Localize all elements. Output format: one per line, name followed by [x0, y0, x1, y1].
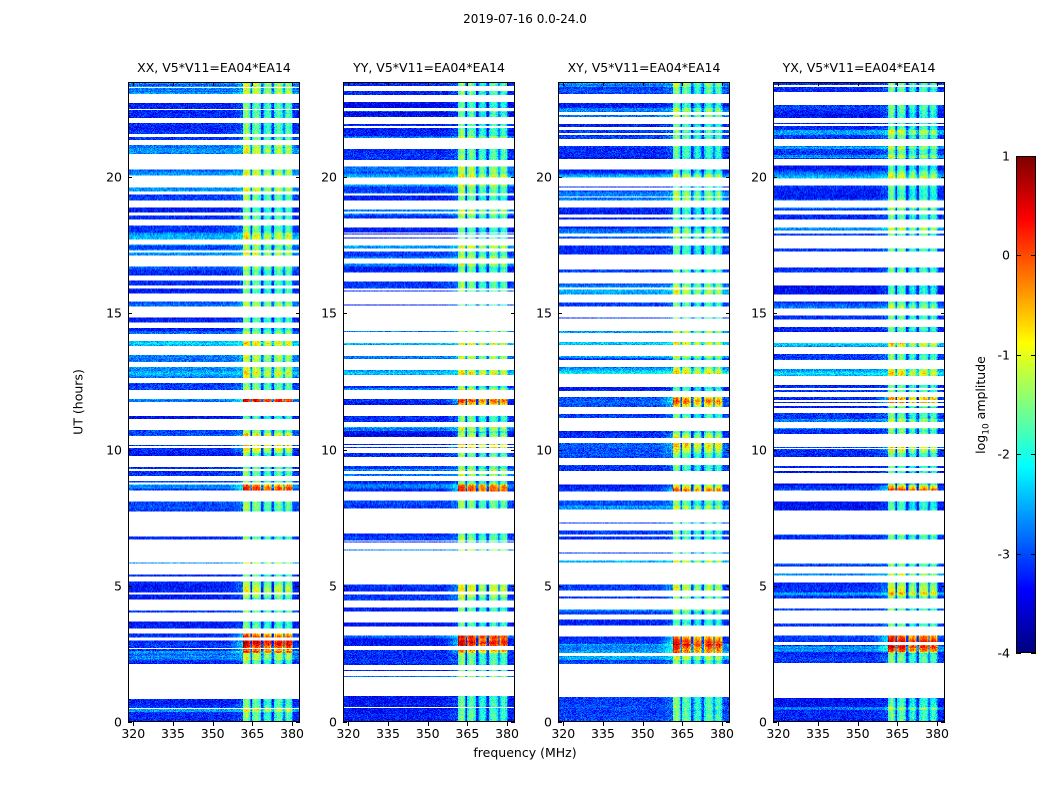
y-axis-label: UT (hours) — [71, 369, 86, 435]
x-tick-top — [818, 82, 819, 86]
y-tick-right — [296, 586, 300, 587]
y-tick-right — [296, 450, 300, 451]
panel-xy[interactable]: XY, V5*V11=EA04*EA14 — [558, 82, 730, 722]
y-tick-right — [296, 722, 300, 723]
y-tick — [773, 177, 777, 178]
y-tick — [773, 722, 777, 723]
colorbar-tick — [1016, 653, 1021, 654]
y-tick-right — [511, 177, 515, 178]
colorbar[interactable] — [1016, 156, 1036, 653]
x-tick-top — [603, 82, 604, 86]
y-tick-label: 15 — [745, 306, 767, 321]
x-tick-label: 380 — [495, 726, 519, 741]
colorbar-tick-right — [1031, 653, 1036, 654]
colorbar-label-base: 10 — [981, 423, 991, 434]
x-tick-label: 320 — [336, 726, 360, 741]
y-tick-right — [726, 313, 730, 314]
x-tick-top — [133, 82, 134, 86]
colorbar-tick — [1016, 255, 1021, 256]
x-tick-label: 365 — [455, 726, 479, 741]
x-tick-top — [682, 82, 683, 86]
colorbar-tick — [1016, 355, 1021, 356]
y-tick-right — [296, 177, 300, 178]
y-tick-right — [726, 450, 730, 451]
x-tick-top — [858, 82, 859, 86]
y-tick — [128, 450, 132, 451]
y-tick-label: 5 — [745, 578, 767, 593]
colorbar-label-log: log — [973, 435, 988, 454]
colorbar-tick-right — [1031, 156, 1036, 157]
y-tick — [343, 586, 347, 587]
colorbar-tick — [1016, 156, 1021, 157]
colorbar-tick-right — [1031, 454, 1036, 455]
y-tick-right — [511, 450, 515, 451]
y-tick — [558, 586, 562, 587]
y-tick-label: 10 — [530, 442, 552, 457]
x-tick-label: 335 — [806, 726, 830, 741]
colorbar-tick-right — [1031, 255, 1036, 256]
x-tick-label: 365 — [670, 726, 694, 741]
y-tick — [773, 313, 777, 314]
y-tick — [343, 177, 347, 178]
colorbar-tick-label: 1 — [984, 149, 1010, 164]
x-tick-top — [563, 82, 564, 86]
x-tick-top — [348, 82, 349, 86]
y-tick — [773, 586, 777, 587]
x-axis-label: frequency (MHz) — [0, 745, 1050, 760]
colorbar-tick-label: -3 — [984, 546, 1010, 561]
y-tick-label: 10 — [100, 442, 122, 457]
y-tick-right — [726, 586, 730, 587]
y-tick-label: 20 — [100, 170, 122, 185]
x-tick-top — [643, 82, 644, 86]
panel-yx[interactable]: YX, V5*V11=EA04*EA14 — [773, 82, 945, 722]
colorbar-tick-label: 0 — [984, 248, 1010, 263]
y-tick-right — [726, 722, 730, 723]
y-tick — [128, 586, 132, 587]
figure-canvas: 2019-07-16 0.0-24.0 XX, V5*V11=EA04*EA14… — [0, 0, 1050, 800]
y-tick-right — [941, 722, 945, 723]
y-tick-label: 10 — [745, 442, 767, 457]
colorbar-label-amplitude: amplitude — [973, 356, 988, 423]
y-tick — [558, 450, 562, 451]
x-tick-top — [897, 82, 898, 86]
x-tick-label: 335 — [376, 726, 400, 741]
x-tick-label: 350 — [416, 726, 440, 741]
y-tick-right — [511, 722, 515, 723]
y-tick-label: 0 — [530, 715, 552, 730]
x-tick-label: 350 — [631, 726, 655, 741]
colorbar-tick — [1016, 554, 1021, 555]
y-tick-label: 5 — [100, 578, 122, 593]
y-tick-right — [941, 313, 945, 314]
y-tick — [128, 313, 132, 314]
panel-yy-title: YY, V5*V11=EA04*EA14 — [353, 60, 505, 75]
x-tick-top — [507, 82, 508, 86]
colorbar-tick-right — [1031, 355, 1036, 356]
panel-yy[interactable]: YY, V5*V11=EA04*EA14 — [343, 82, 515, 722]
x-tick-label: 350 — [846, 726, 870, 741]
y-tick — [128, 177, 132, 178]
x-tick-top — [213, 82, 214, 86]
x-tick-label: 320 — [121, 726, 145, 741]
x-tick-top — [722, 82, 723, 86]
x-tick-label: 365 — [240, 726, 264, 741]
x-tick-top — [292, 82, 293, 86]
x-tick-label: 380 — [710, 726, 734, 741]
y-tick-label: 10 — [315, 442, 337, 457]
panel-yx-title: YX, V5*V11=EA04*EA14 — [783, 60, 936, 75]
y-tick-right — [511, 313, 515, 314]
y-tick-right — [941, 450, 945, 451]
x-tick-top — [388, 82, 389, 86]
y-tick — [773, 450, 777, 451]
y-tick-label: 15 — [100, 306, 122, 321]
y-tick-label: 5 — [530, 578, 552, 593]
colorbar-tick — [1016, 454, 1021, 455]
x-tick-top — [937, 82, 938, 86]
y-tick-right — [296, 313, 300, 314]
y-tick-right — [511, 586, 515, 587]
x-tick-label: 320 — [551, 726, 575, 741]
x-tick-top — [428, 82, 429, 86]
x-tick-label: 320 — [766, 726, 790, 741]
y-tick — [558, 177, 562, 178]
x-tick-top — [467, 82, 468, 86]
y-tick-right — [941, 586, 945, 587]
y-tick-label: 20 — [530, 170, 552, 185]
y-tick-label: 0 — [745, 715, 767, 730]
y-tick-label: 0 — [315, 715, 337, 730]
x-tick-top — [252, 82, 253, 86]
x-tick-label: 335 — [161, 726, 185, 741]
x-tick-top — [778, 82, 779, 86]
y-tick — [343, 722, 347, 723]
y-tick-label: 0 — [100, 715, 122, 730]
panel-xy-title: XY, V5*V11=EA04*EA14 — [568, 60, 721, 75]
x-tick-label: 380 — [925, 726, 949, 741]
x-tick-top — [173, 82, 174, 86]
x-tick-label: 350 — [201, 726, 225, 741]
y-tick-label: 20 — [315, 170, 337, 185]
panel-xx-title: XX, V5*V11=EA04*EA14 — [137, 60, 291, 75]
colorbar-label: log10 amplitude — [973, 356, 992, 454]
figure-suptitle: 2019-07-16 0.0-24.0 — [0, 12, 1050, 26]
y-tick-label: 15 — [530, 306, 552, 321]
y-tick-label: 20 — [745, 170, 767, 185]
x-tick-label: 335 — [591, 726, 615, 741]
y-tick — [343, 313, 347, 314]
y-tick-label: 15 — [315, 306, 337, 321]
colorbar-tick-label: -4 — [984, 646, 1010, 661]
y-tick-label: 5 — [315, 578, 337, 593]
y-tick — [343, 450, 347, 451]
x-tick-label: 380 — [280, 726, 304, 741]
y-tick — [558, 313, 562, 314]
y-tick — [128, 722, 132, 723]
panel-xx[interactable]: XX, V5*V11=EA04*EA14 — [128, 82, 300, 722]
x-tick-label: 365 — [885, 726, 909, 741]
y-tick-right — [941, 177, 945, 178]
y-tick-right — [726, 177, 730, 178]
y-tick — [558, 722, 562, 723]
colorbar-tick-right — [1031, 554, 1036, 555]
